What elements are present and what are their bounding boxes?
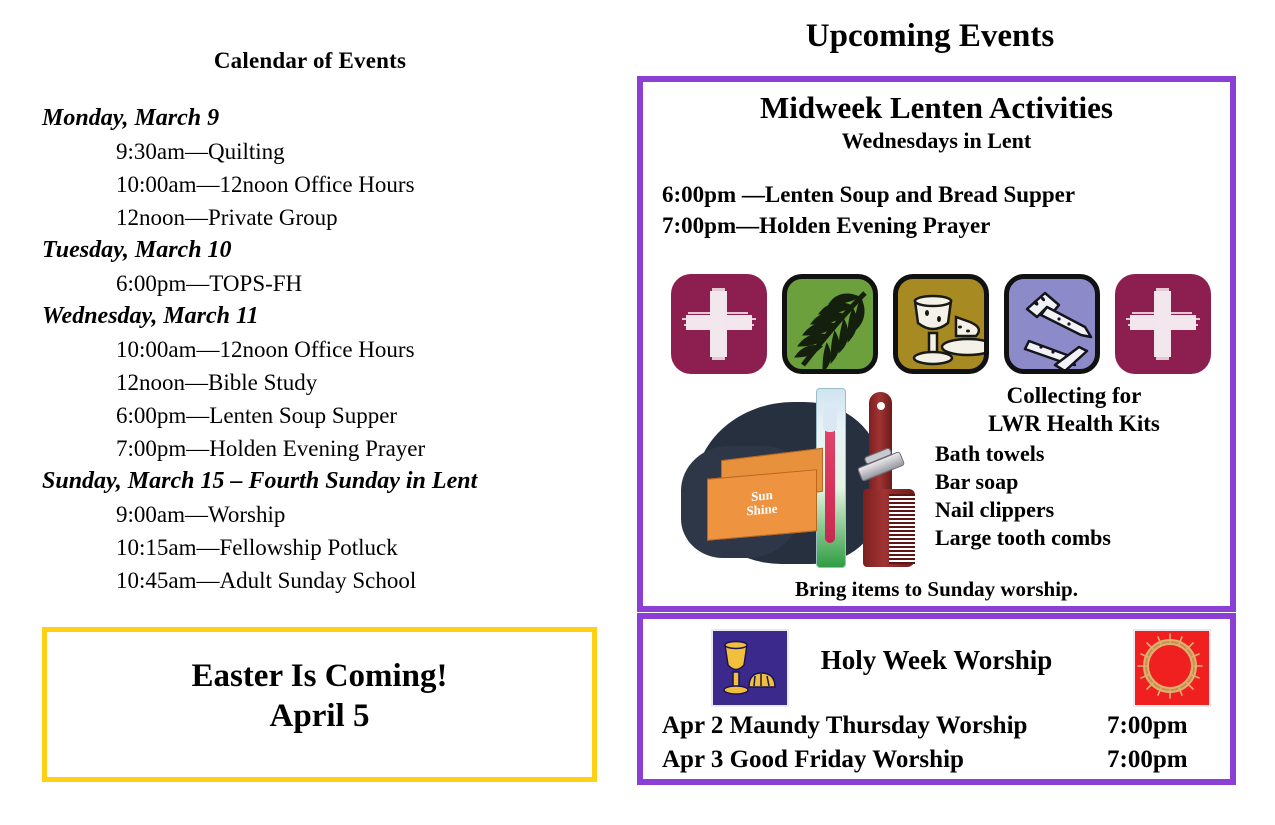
event-item: 10:00am—12noon Office Hours — [42, 168, 620, 201]
event-item: 10:00am—12noon Office Hours — [42, 333, 620, 366]
collecting-items-list: Bath towels Bar soap Nail clippers Large… — [915, 440, 1233, 552]
upcoming-events-column: Upcoming Events Midweek Lenten Activitie… — [620, 0, 1275, 825]
event-item: 10:45am—Adult Sunday School — [42, 564, 620, 597]
event-item: 9:00am—Worship — [42, 498, 620, 531]
event-item: 6:00pm—TOPS-FH — [42, 267, 620, 300]
easter-announcement-box: Easter Is Coming! April 5 — [42, 627, 597, 782]
event-item: 12noon—Bible Study — [42, 366, 620, 399]
toothbrush-head-shape — [823, 406, 837, 432]
calendar-column: Calendar of Events Monday, March 9 9:30a… — [0, 0, 620, 825]
comb-teeth-shape — [889, 494, 915, 564]
collecting-heading-line-2: LWR Health Kits — [915, 410, 1233, 438]
calendar-day-group: Tuesday, March 10 6:00pm—TOPS-FH — [42, 234, 620, 300]
day-header: Monday, March 9 — [42, 102, 620, 135]
palm-branch-icon — [782, 274, 878, 374]
day-events: 6:00pm—TOPS-FH — [42, 267, 620, 300]
ash-cross-icon — [1115, 274, 1211, 374]
day-events: 9:00am—Worship 10:15am—Fellowship Potluc… — [42, 498, 620, 597]
calendar-day-group: Sunday, March 15 – Fourth Sunday in Lent… — [42, 465, 620, 597]
soap-box-front-shape: Sun Shine — [707, 469, 817, 541]
calendar-list: Monday, March 9 9:30am—Quilting 10:00am—… — [0, 102, 620, 597]
event-item: 6:00pm—Lenten Soup Supper — [42, 399, 620, 432]
health-kit-photo: Sun Shine — [673, 384, 923, 579]
service-label: Apr 3 Good Friday Worship — [662, 746, 1107, 774]
day-header: Tuesday, March 10 — [42, 234, 620, 267]
palm-branch-glyph — [787, 279, 878, 374]
collecting-item: Large tooth combs — [935, 524, 1233, 552]
easter-headline: Easter Is Coming! — [47, 656, 592, 696]
holy-week-service-row: Apr 3 Good Friday Worship 7:00pm — [662, 746, 1222, 774]
day-events: 9:30am—Quilting 10:00am—12noon Office Ho… — [42, 135, 620, 234]
chalice-bread-glyph — [898, 279, 989, 374]
calendar-day-group: Monday, March 9 9:30am—Quilting 10:00am—… — [42, 102, 620, 234]
hammer-nails-icon — [1004, 274, 1100, 374]
crown-of-thorns-icon — [1133, 629, 1211, 707]
chalice-bread-icon — [893, 274, 989, 374]
ash-cross-icon — [671, 274, 767, 374]
toothbrush-handle-shape — [825, 418, 835, 543]
ash-cross-glyph — [686, 291, 752, 357]
collecting-heading-line-1: Collecting for — [915, 382, 1233, 410]
comb-hole-shape — [877, 402, 885, 410]
holy-week-service-row: Apr 2 Maundy Thursday Worship 7:00pm — [662, 712, 1222, 740]
collecting-item: Bath towels — [935, 440, 1233, 468]
hammer-nails-glyph — [1009, 279, 1100, 374]
crown-of-thorns-glyph — [1135, 631, 1205, 701]
service-label: Apr 2 Maundy Thursday Worship — [662, 712, 1107, 740]
calendar-day-group: Wednesday, March 11 10:00am—12noon Offic… — [42, 300, 620, 465]
lenten-icon-strip — [671, 270, 1211, 378]
easter-date: April 5 — [47, 696, 592, 736]
day-header: Sunday, March 15 – Fourth Sunday in Lent — [42, 465, 620, 498]
midweek-subtitle: Wednesdays in Lent — [643, 127, 1230, 155]
midweek-schedule-line: 7:00pm—Holden Evening Prayer — [643, 210, 1230, 241]
service-time: 7:00pm — [1107, 746, 1222, 774]
midweek-lenten-box: Midweek Lenten Activities Wednesdays in … — [637, 76, 1236, 612]
soap-brand-line-2: Shine — [746, 501, 777, 519]
service-time: 7:00pm — [1107, 712, 1222, 740]
holy-week-box: Holy Week Worship Apr 2 Maundy Thursday — [637, 613, 1236, 785]
calendar-heading: Calendar of Events — [0, 48, 620, 74]
event-item: 12noon—Private Group — [42, 201, 620, 234]
collecting-block: Collecting for LWR Health Kits Bath towe… — [915, 382, 1233, 552]
event-item: 9:30am—Quilting — [42, 135, 620, 168]
collecting-item: Nail clippers — [935, 496, 1233, 524]
page-title: Upcoming Events — [620, 18, 1240, 55]
ash-cross-glyph — [1130, 291, 1196, 357]
event-item: 10:15am—Fellowship Potluck — [42, 531, 620, 564]
collecting-item: Bar soap — [935, 468, 1233, 496]
midweek-schedule-line: 6:00pm —Lenten Soup and Bread Supper — [643, 179, 1230, 210]
day-header: Wednesday, March 11 — [42, 300, 620, 333]
event-item: 7:00pm—Holden Evening Prayer — [42, 432, 620, 465]
midweek-title: Midweek Lenten Activities — [643, 90, 1230, 126]
bring-items-note: Bring items to Sunday worship. — [643, 577, 1230, 602]
day-events: 10:00am—12noon Office Hours 12noon—Bible… — [42, 333, 620, 465]
